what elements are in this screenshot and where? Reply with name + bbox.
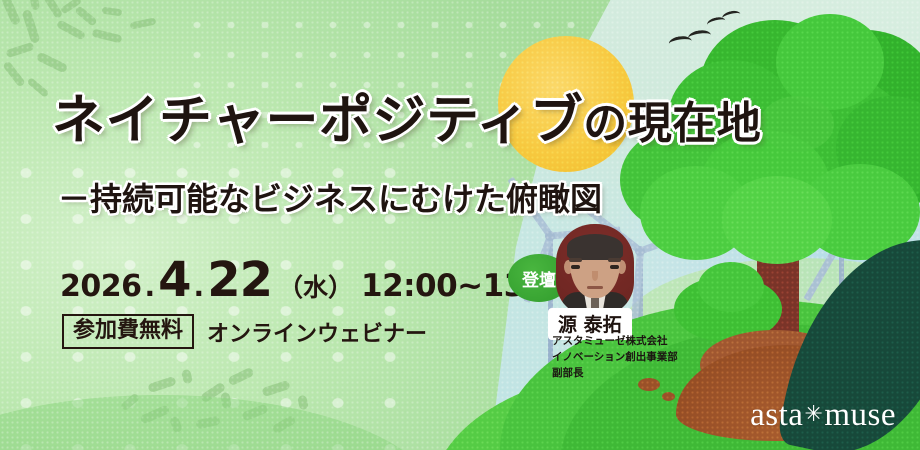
avatar-eye-right — [610, 265, 619, 269]
webinar-banner: ネイチャーポジティブの現在地 －持続可能なビジネスにむけた俯瞰図 2026 . … — [0, 0, 920, 450]
speaker-block: 登壇 源 泰拓 アスタミューゼ株式会社 イノベーション創 — [508, 222, 738, 392]
date-sep-1: . — [142, 270, 159, 303]
avatar-nose — [592, 271, 598, 281]
event-info-row: 参加費無料 オンラインウェビナー — [62, 314, 427, 349]
avatar-mouth — [587, 286, 603, 289]
main-title-lead: ネイチャーポジティブ — [52, 90, 583, 151]
avatar-hair — [567, 234, 623, 260]
asterisk-icon: ✳ — [803, 401, 824, 427]
event-date: 2026 . 4 . 22 （水） 12:00~13:00 — [60, 252, 579, 308]
date-month: 4 — [158, 252, 190, 308]
text-layer: ネイチャーポジティブの現在地 －持続可能なビジネスにむけた俯瞰図 2026 . … — [0, 0, 920, 450]
main-title-tail: の現在地 — [583, 98, 761, 149]
fee-badge: 参加費無料 — [62, 314, 194, 349]
date-day-of-week: （水） — [272, 268, 353, 304]
date-sep-2: . — [191, 270, 208, 303]
avatar — [556, 224, 634, 316]
date-year: 2026 — [60, 269, 142, 304]
speaker-affiliation: アスタミューゼ株式会社 イノベーション創出事業部 副部長 — [552, 334, 678, 381]
avatar-brow-left — [569, 258, 582, 262]
avatar-brow-right — [608, 258, 621, 262]
logo-text-left: asta — [750, 397, 803, 434]
page-title: ネイチャーポジティブの現在地 — [52, 78, 761, 154]
speaker-affiliation-line-3: 副部長 — [552, 366, 678, 382]
brand-logo: asta ✳ muse — [750, 397, 896, 434]
subtitle: －持続可能なビジネスにむけた俯瞰図 — [58, 174, 602, 220]
speaker-affiliation-line-2: イノベーション創出事業部 — [552, 350, 678, 366]
format-label: オンラインウェビナー — [207, 316, 427, 348]
avatar-eye-left — [571, 265, 580, 269]
logo-text-right: muse — [824, 397, 896, 434]
date-day: 22 — [207, 252, 272, 308]
speaker-affiliation-line-1: アスタミューゼ株式会社 — [552, 334, 678, 350]
